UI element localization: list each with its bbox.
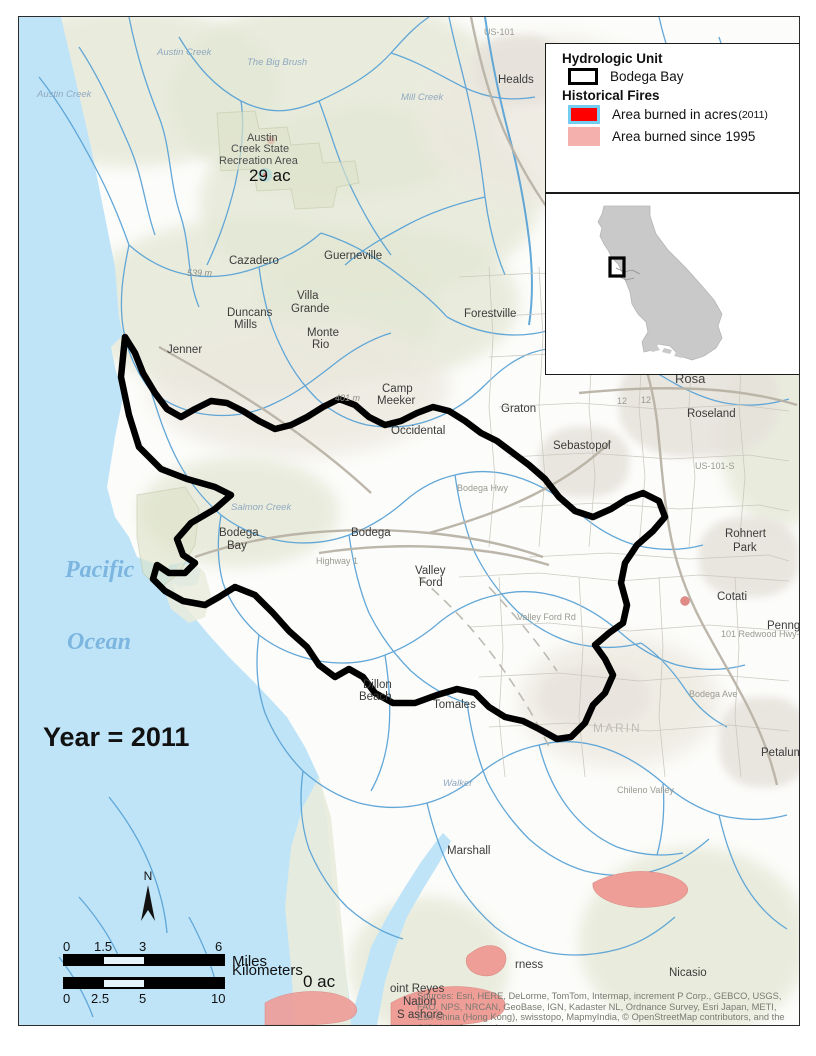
place-label: Austin Creek xyxy=(37,89,91,101)
km-tick-2: 5 xyxy=(139,991,146,1006)
scale-bar-kilometers: Kilometers xyxy=(63,977,225,989)
legend-label-current-fire: Area burned in acres xyxy=(612,107,737,122)
scale-miles-ticks: 0 1.5 3 6 xyxy=(63,939,263,954)
place-label: Sebastopol xyxy=(553,441,611,453)
acres-burned-label: 29 ac xyxy=(249,166,291,186)
place-label: Beach xyxy=(359,692,392,704)
legend-item-bodega-bay[interactable]: Bodega Bay xyxy=(568,68,800,85)
km-tick-3: 10 xyxy=(211,991,225,1006)
north-arrow-icon xyxy=(137,883,159,923)
place-label: Healds xyxy=(498,75,534,87)
legend-label-current-fire-year: (2011) xyxy=(738,109,768,121)
inset-locator-map[interactable] xyxy=(545,193,800,375)
km-tick-0: 0 xyxy=(63,991,70,1006)
place-label: Bodega xyxy=(351,528,391,540)
place-label: Petaluma xyxy=(761,748,800,760)
legend-label-historical-fire: Area burned since 1995 xyxy=(612,129,755,144)
place-label: Meeker xyxy=(377,396,415,408)
place-label: Creek State xyxy=(231,144,289,156)
place-label: Mills xyxy=(234,320,257,332)
map-canvas[interactable]: The Big BrushMill CreekAustin CreekAusti… xyxy=(18,16,800,1026)
place-label: Rio xyxy=(312,340,329,352)
place-label: Bay xyxy=(227,541,247,553)
place-label: 12 xyxy=(617,396,627,408)
place-label: Occidental xyxy=(391,426,445,438)
place-label: Duncans xyxy=(227,308,272,320)
place-label: 401 m xyxy=(335,393,360,405)
place-label: Bodega Ave xyxy=(689,689,737,701)
miles-tick-1: 1.5 xyxy=(94,939,112,954)
place-label: Villa xyxy=(297,291,319,303)
place-label: Guerneville xyxy=(324,251,382,263)
legend-swatch-historical-fire xyxy=(568,127,600,146)
north-letter: N xyxy=(137,869,159,883)
scale-km-ticks: 0 2.5 5 10 xyxy=(63,991,263,1006)
place-label: Cotati xyxy=(717,592,747,604)
place-label: The Big Brush xyxy=(247,57,307,69)
place-label: US-101-S xyxy=(695,461,735,473)
place-label: rness xyxy=(515,960,543,972)
place-label: US-101 xyxy=(484,27,515,39)
place-label: Marshall xyxy=(447,846,490,858)
place-label: Bodega xyxy=(219,528,259,540)
place-label: MARIN xyxy=(593,723,642,735)
legend-item-current-fire[interactable]: Area burned in acres(2011) xyxy=(568,105,800,124)
place-label: Tomales xyxy=(433,700,476,712)
legend-swatch-boundary xyxy=(568,68,598,85)
place-label: Chileno Valley xyxy=(617,785,674,797)
place-label: Walker xyxy=(443,778,472,790)
legend-title-historical-fires: Historical Fires xyxy=(562,88,800,103)
miles-tick-0: 0 xyxy=(63,939,70,954)
place-label: Rohnert xyxy=(725,529,766,541)
place-label: Jenner xyxy=(167,345,202,357)
place-label: Highway 1 xyxy=(316,556,358,568)
place-label: Monte xyxy=(307,328,339,340)
california-outline xyxy=(546,194,800,374)
legend-panel: Hydrologic Unit Bodega Bay Historical Fi… xyxy=(545,43,800,193)
legend-item-historical-fire[interactable]: Area burned since 1995 xyxy=(568,127,800,146)
place-label: Nicasio xyxy=(669,968,707,980)
miles-tick-3: 6 xyxy=(215,939,222,954)
place-label: Park xyxy=(733,543,757,555)
north-arrow: N xyxy=(137,869,159,928)
place-label: Salmon Creek xyxy=(231,502,291,514)
place-label: Dillon xyxy=(363,680,392,692)
place-label: Grande xyxy=(291,304,329,316)
scale-bar-miles: Miles xyxy=(63,954,225,966)
place-label: Graton xyxy=(501,404,536,416)
legend-label-bodega-bay: Bodega Bay xyxy=(610,69,684,84)
place-label: Ford xyxy=(419,578,443,590)
scale-bar: 0 1.5 3 6 Miles Kilometers 0 2.5 5 10 xyxy=(63,939,263,1006)
miles-tick-2: 3 xyxy=(139,939,146,954)
place-label: 12 xyxy=(641,395,651,407)
place-label: Roseland xyxy=(687,409,736,421)
place-label: Mill Creek xyxy=(401,92,443,104)
place-label: Valley Ford Rd xyxy=(517,612,576,624)
place-label: 101 Redwood Hwy-US-101 xyxy=(721,629,800,641)
place-label: Cazadero xyxy=(229,256,279,268)
ocean-label-pacific: Pacific xyxy=(65,557,134,584)
scale-bar-miles-segment xyxy=(104,957,144,964)
scale-bar-km-segment xyxy=(104,980,144,987)
acres-zero-label: 0 ac xyxy=(303,972,335,992)
ocean-label-ocean: Ocean xyxy=(67,629,131,656)
km-tick-1: 2.5 xyxy=(91,991,109,1006)
legend-swatch-current-fire xyxy=(568,105,600,124)
scale-unit-kilometers: Kilometers xyxy=(232,962,303,979)
place-label: Camp xyxy=(382,384,413,396)
place-label: 539 m xyxy=(187,268,212,280)
place-label: Valley xyxy=(415,566,445,578)
year-label: Year = 2011 xyxy=(43,722,189,753)
map-page: The Big BrushMill CreekAustin CreekAusti… xyxy=(0,0,816,1056)
place-label: Austin Creek xyxy=(157,47,211,59)
place-label: Forestville xyxy=(464,309,516,321)
legend-title-hydrologic-unit: Hydrologic Unit xyxy=(562,51,800,66)
place-label: Bodega Hwy xyxy=(457,483,508,495)
attribution-text: Sources: Esri, HERE, DeLorme, TomTom, In… xyxy=(417,991,789,1026)
